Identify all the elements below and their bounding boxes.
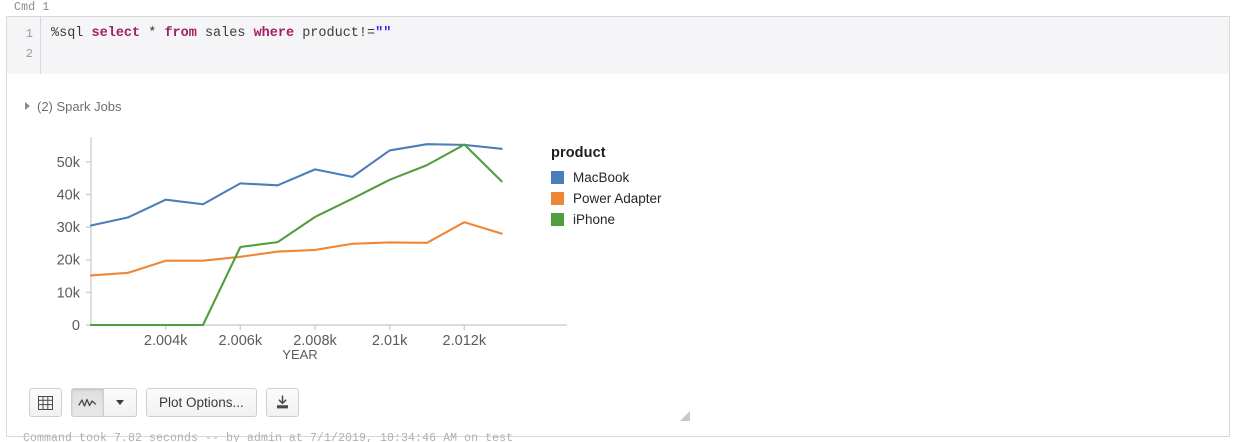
x-tick-label: 2.01k xyxy=(372,333,408,349)
code-editor[interactable]: 1 2 %sql select * from sales where produ… xyxy=(7,17,1229,74)
code-token-keyword: select xyxy=(92,26,141,41)
notebook-cell-screenshot: Cmd 1 1 2 %sql select * from sales where… xyxy=(0,0,1234,442)
plot-options-button[interactable]: Plot Options... xyxy=(146,388,257,417)
download-button[interactable] xyxy=(266,388,299,417)
legend-label-power-adapter: Power Adapter xyxy=(573,191,662,206)
legend-label-iphone: iPhone xyxy=(573,212,615,227)
legend-swatch-iphone xyxy=(551,213,564,226)
legend-item-macbook[interactable]: MacBook xyxy=(551,170,662,185)
command-cell: 1 2 %sql select * from sales where produ… xyxy=(6,16,1230,437)
code-token-string: "" xyxy=(375,26,391,41)
y-tick-label: 50k xyxy=(57,155,81,171)
chart-legend: product MacBook Power Adapter iPhone xyxy=(551,145,662,233)
chart-view-button-group xyxy=(71,388,137,417)
x-tick-label: 2.004k xyxy=(144,333,188,349)
cmd-label: Cmd 1 xyxy=(14,1,50,14)
chart-area[interactable]: 010k20k30k40k50k2.004k2.006k2.008k2.01k2… xyxy=(15,125,715,375)
legend-title: product xyxy=(551,145,662,161)
line-number: 2 xyxy=(26,47,33,61)
code-token-keyword: from xyxy=(164,26,196,41)
y-tick-label: 0 xyxy=(72,318,80,334)
command-status-text: Command took 7.82 seconds -- by admin at… xyxy=(23,432,513,442)
spark-jobs-toggle[interactable]: (2) Spark Jobs xyxy=(25,99,122,114)
y-tick-label: 10k xyxy=(57,285,81,301)
legend-swatch-macbook xyxy=(551,171,564,184)
table-icon xyxy=(38,396,53,410)
legend-item-iphone[interactable]: iPhone xyxy=(551,212,662,227)
code-token-plain: product!= xyxy=(294,26,375,41)
y-tick-label: 20k xyxy=(57,253,81,269)
line-chart-icon xyxy=(78,397,97,409)
legend-swatch-power-adapter xyxy=(551,192,564,205)
line-number: 1 xyxy=(26,27,33,41)
code-token-keyword: where xyxy=(254,26,295,41)
legend-item-power-adapter[interactable]: Power Adapter xyxy=(551,191,662,206)
caret-right-icon xyxy=(25,102,30,110)
code-token-plain: %sql xyxy=(51,26,92,41)
legend-label-macbook: MacBook xyxy=(573,170,629,185)
x-axis-label: YEAR xyxy=(282,347,317,362)
y-tick-label: 40k xyxy=(57,187,81,203)
chart-view-button[interactable] xyxy=(71,388,104,417)
spark-jobs-label: (2) Spark Jobs xyxy=(37,99,122,114)
table-view-button[interactable] xyxy=(29,388,62,417)
y-tick-label: 30k xyxy=(57,220,81,236)
chart-type-dropdown-button[interactable] xyxy=(104,388,137,417)
result-toolbar: Plot Options... xyxy=(29,388,299,417)
code-token-plain: sales xyxy=(197,26,254,41)
download-icon xyxy=(275,395,290,410)
code-line-1[interactable]: %sql select * from sales where product!=… xyxy=(51,26,391,42)
x-tick-label: 2.006k xyxy=(219,333,263,349)
series-line-macbook[interactable] xyxy=(91,144,502,225)
resize-grip-icon[interactable] xyxy=(679,409,691,421)
x-tick-label: 2.012k xyxy=(443,333,487,349)
caret-down-icon xyxy=(116,400,124,405)
line-number-gutter: 1 2 xyxy=(7,17,41,74)
